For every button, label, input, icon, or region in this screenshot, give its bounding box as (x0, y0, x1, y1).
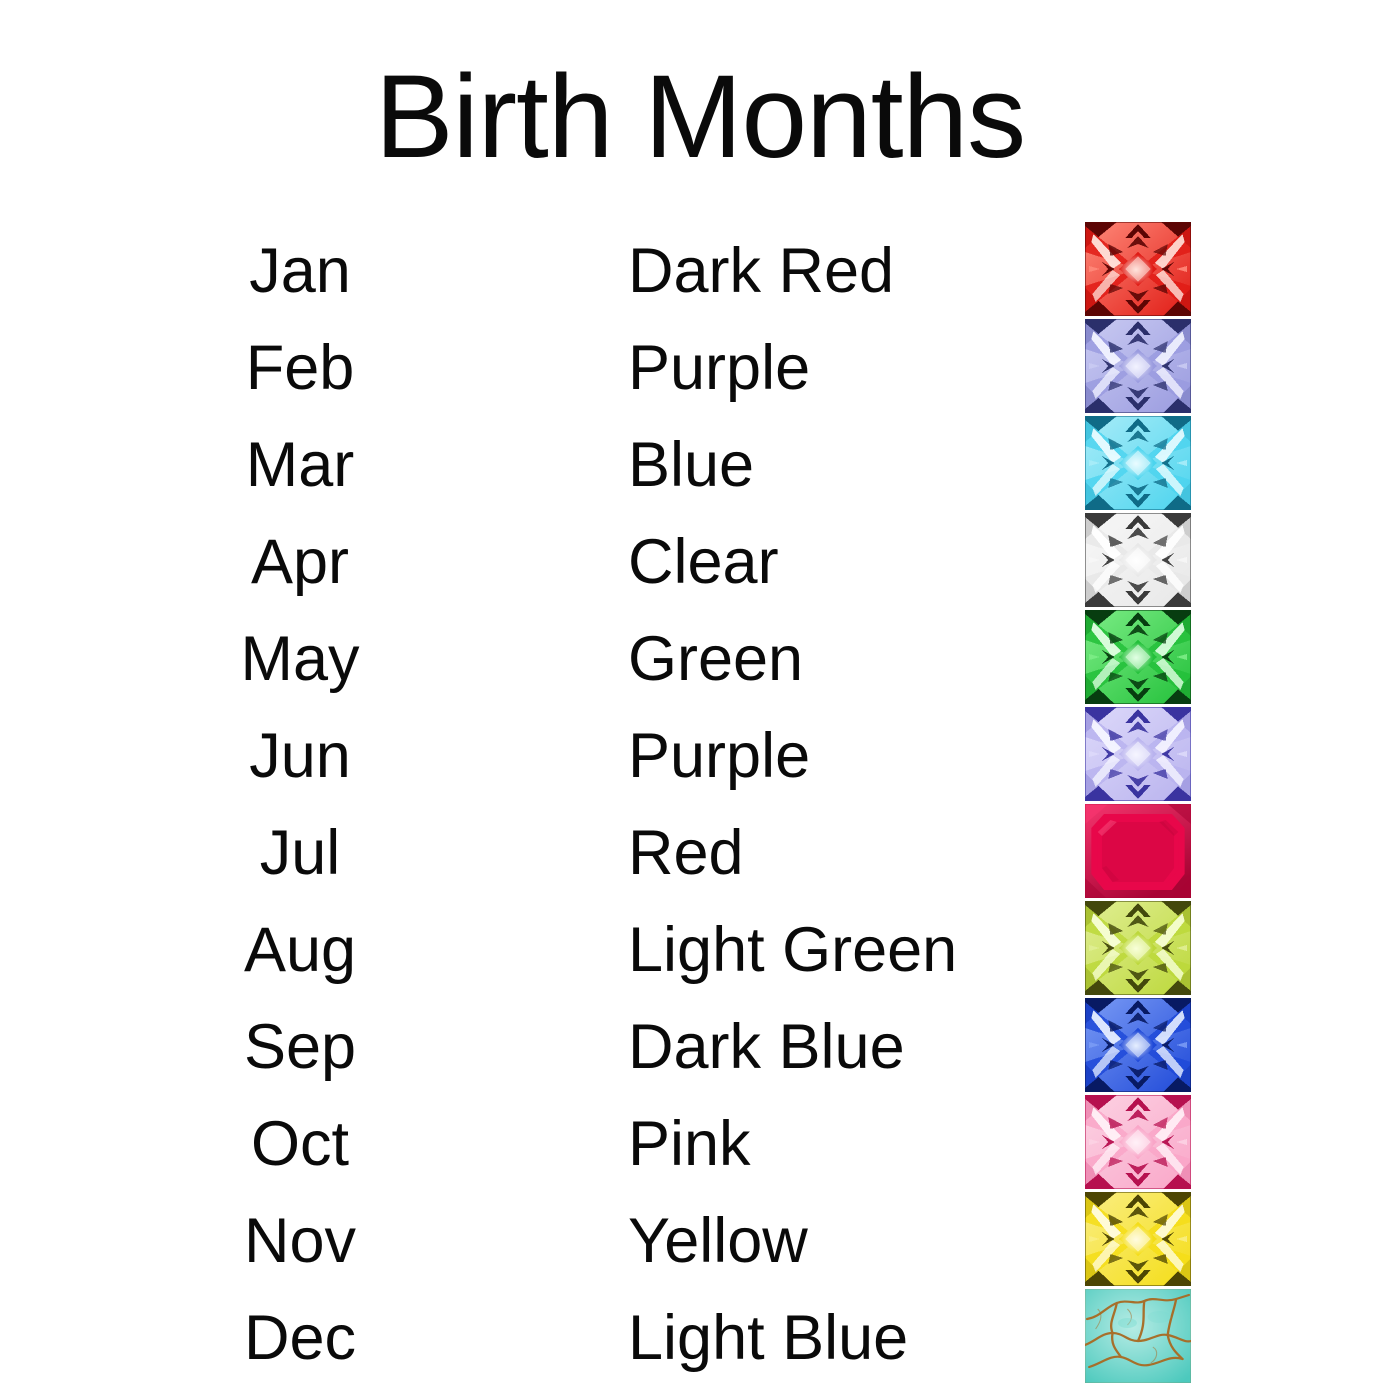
month-label: Aug (175, 901, 425, 998)
table-row: NovYellow (0, 1192, 1400, 1289)
month-label: Feb (175, 319, 425, 416)
month-label: May (175, 610, 425, 707)
color-name-label: Green (628, 610, 1058, 707)
table-row: JanDark Red (0, 222, 1400, 319)
table-row: FebPurple (0, 319, 1400, 416)
color-name-label: Blue (628, 416, 1058, 513)
citrine-gem-icon (1085, 1192, 1191, 1289)
table-row: OctPink (0, 1095, 1400, 1192)
birth-months-page: Birth Months JanDark Red FebPurple (0, 0, 1400, 1400)
month-label: Nov (175, 1192, 425, 1289)
garnet-gem-icon (1085, 222, 1191, 319)
color-name-label: Yellow (628, 1192, 1058, 1289)
birth-months-table: JanDark Red FebPurple (0, 222, 1400, 1386)
month-label: Oct (175, 1095, 425, 1192)
color-name-label: Purple (628, 707, 1058, 804)
month-label: Jun (175, 707, 425, 804)
color-name-label: Light Blue (628, 1289, 1058, 1386)
color-name-label: Light Green (628, 901, 1058, 998)
turquoise-gem-icon (1085, 1289, 1191, 1386)
alexandrite-gem-icon (1085, 707, 1191, 804)
table-row: AprClear (0, 513, 1400, 610)
table-row: MarBlue (0, 416, 1400, 513)
color-name-label: Clear (628, 513, 1058, 610)
peridot-gem-icon (1085, 901, 1191, 998)
color-name-label: Pink (628, 1095, 1058, 1192)
table-row: SepDark Blue (0, 998, 1400, 1095)
sapphire-gem-icon (1085, 998, 1191, 1095)
table-row: MayGreen (0, 610, 1400, 707)
color-name-label: Dark Red (628, 222, 1058, 319)
amethyst-gem-icon (1085, 319, 1191, 416)
table-row: JulRed (0, 804, 1400, 901)
ruby-gem-icon (1085, 804, 1191, 901)
month-label: Apr (175, 513, 425, 610)
page-title: Birth Months (0, 58, 1400, 176)
table-row: DecLight Blue (0, 1289, 1400, 1386)
color-name-label: Purple (628, 319, 1058, 416)
table-row: AugLight Green (0, 901, 1400, 998)
color-name-label: Red (628, 804, 1058, 901)
tourmaline-gem-icon (1085, 1095, 1191, 1192)
emerald-gem-icon (1085, 610, 1191, 707)
table-row: JunPurple (0, 707, 1400, 804)
month-label: Sep (175, 998, 425, 1095)
month-label: Dec (175, 1289, 425, 1386)
month-label: Mar (175, 416, 425, 513)
diamond-gem-icon (1085, 513, 1191, 610)
color-name-label: Dark Blue (628, 998, 1058, 1095)
month-label: Jan (175, 222, 425, 319)
aquamarine-gem-icon (1085, 416, 1191, 513)
month-label: Jul (175, 804, 425, 901)
